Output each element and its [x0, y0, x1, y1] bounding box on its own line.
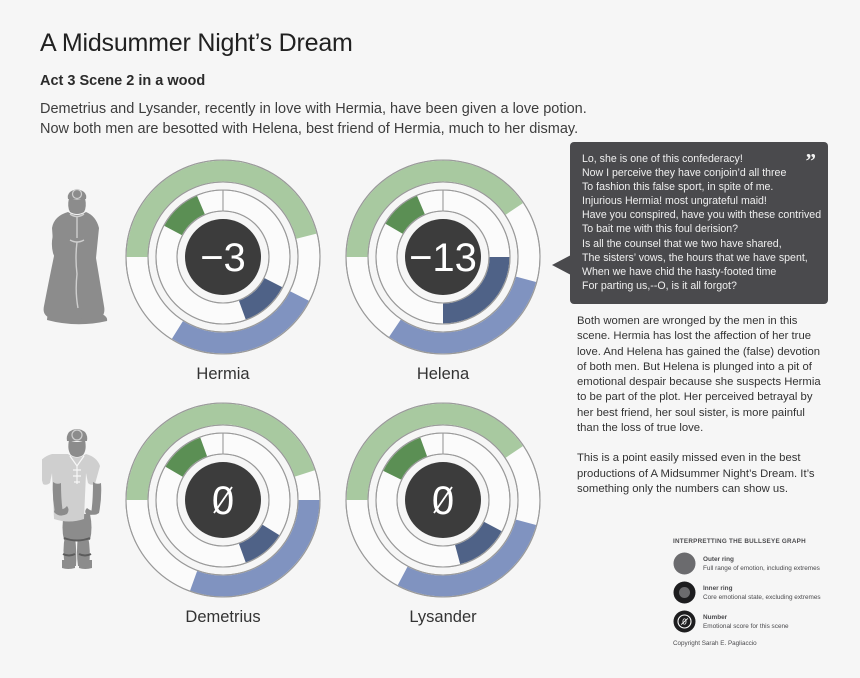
bullseye-chart-hermia: −3 [123, 157, 323, 357]
bullseye-chart-demetrius: 0 [123, 400, 323, 600]
female-figure-icon [42, 184, 108, 326]
legend-row-inner-ring: Inner ring Core emotional state, excludi… [673, 581, 838, 604]
legend-item-desc: Emotional score for this scene [703, 622, 789, 631]
quote-line: Have you conspired, have you with these … [582, 208, 816, 222]
bullseye-hermia[interactable]: −3 Hermia [123, 157, 323, 384]
quote-line: To fashion this false sport, in spite of… [582, 180, 816, 194]
analysis-paragraph-2: This is a point easily missed even in th… [577, 451, 827, 497]
score-value: −13 [409, 236, 477, 280]
legend-item-desc: Core emotional state, excluding extremes [703, 593, 821, 602]
legend-item-desc: Full range of emotion, including extreme… [703, 564, 820, 573]
legend: INTERPRETTING THE BULLSEYE GRAPH Outer r… [673, 538, 838, 647]
character-label-hermia: Hermia [123, 365, 323, 384]
legend-item-title: Number [703, 613, 789, 622]
quote-line: The sisters’ vows, the hours that we hav… [582, 251, 816, 265]
intro-line-1: Demetrius and Lysander, recently in love… [40, 99, 660, 119]
number-swatch-icon: 0 [673, 610, 696, 633]
infographic-page: A Midsummer Night’s Dream Act 3 Scene 2 … [0, 0, 860, 678]
quote-line: To bait me with this foul derision? [582, 222, 816, 236]
bullseye-chart-helena: −13 [343, 157, 543, 357]
quote-line: Is all the counsel that we two have shar… [582, 237, 816, 251]
legend-title: INTERPRETTING THE BULLSEYE GRAPH [673, 538, 838, 545]
scene-subtitle: Act 3 Scene 2 in a wood [40, 73, 660, 89]
bullseye-lysander[interactable]: 0 Lysander [343, 400, 543, 627]
character-label-lysander: Lysander [343, 608, 543, 627]
character-label-demetrius: Demetrius [123, 608, 323, 627]
legend-row-number: 0 Number Emotional score for this scene [673, 610, 838, 633]
score-value: −3 [200, 236, 246, 280]
quote-line: Injurious Hermia! most ungrateful maid! [582, 194, 816, 208]
bullseye-chart-lysander: 0 [343, 400, 543, 600]
intro-line-2: Now both men are besotted with Helena, b… [40, 119, 660, 139]
quote-line: When we have chid the hasty-footed time [582, 265, 816, 279]
intro-text: Demetrius and Lysander, recently in love… [40, 99, 660, 139]
header: A Midsummer Night’s Dream Act 3 Scene 2 … [40, 30, 660, 139]
quote-callout-pointer [552, 255, 571, 275]
page-title: A Midsummer Night’s Dream [40, 30, 660, 58]
analysis-text: Both women are wronged by the men in thi… [577, 314, 827, 497]
inner-ring-swatch-icon [673, 581, 696, 604]
bullseye-helena[interactable]: −13 Helena [343, 157, 543, 384]
quote-line: Now I perceive they have conjoin’d all t… [582, 166, 816, 180]
male-figure-icon [42, 424, 108, 572]
quote-card: ” Lo, she is one of this confederacy!Now… [570, 142, 828, 304]
bullseye-demetrius[interactable]: 0 Demetrius [123, 400, 323, 627]
legend-row-outer-ring: Outer ring Full range of emotion, includ… [673, 552, 838, 575]
character-label-helena: Helena [343, 365, 543, 384]
outer-ring-swatch-icon [673, 552, 696, 575]
analysis-paragraph-1: Both women are wronged by the men in thi… [577, 314, 827, 436]
legend-item-title: Outer ring [703, 555, 820, 564]
quote-line: For parting us,--O, is it all forgot? [582, 279, 816, 293]
legend-item-title: Inner ring [703, 584, 821, 593]
copyright-text: Copyright Sarah E. Pagliaccio [673, 640, 838, 647]
quote-lines: Lo, she is one of this confederacy!Now I… [582, 152, 816, 293]
quote-line: Lo, she is one of this confederacy! [582, 152, 816, 166]
quotation-mark-icon: ” [806, 151, 817, 172]
